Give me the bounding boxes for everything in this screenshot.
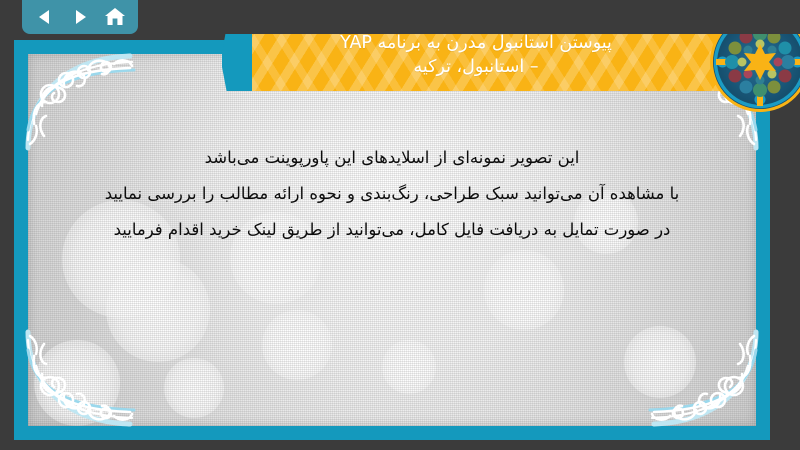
slide-body-text: این تصویر نمونه‌ای از اسلایدهای این پاور… [54, 140, 730, 248]
back-triangle-icon [36, 8, 54, 26]
ornament-corner-bottom-right [638, 322, 770, 440]
bokeh-circle [34, 340, 120, 426]
forward-triangle-icon [71, 8, 89, 26]
top-navigation-bar [0, 0, 800, 34]
ornament-corner-bottom-left [14, 322, 146, 440]
body-line: در صورت تمایل به دریافت فایل کامل، می‌تو… [54, 212, 730, 248]
home-button[interactable] [102, 5, 128, 29]
bokeh-circle [624, 326, 696, 398]
slide-header-banner: بررسی طراحی معماری فرهنگی؛ پیوستن استانب… [222, 28, 800, 91]
bokeh-circle [382, 340, 436, 394]
back-button[interactable] [32, 5, 58, 29]
bokeh-circle [164, 358, 224, 418]
body-line: با مشاهده آن می‌توانید سبک طراحی، رنگ‌بن… [54, 176, 730, 212]
bokeh-circle [262, 310, 332, 380]
body-line: این تصویر نمونه‌ای از اسلایدهای این پاور… [54, 140, 730, 176]
home-icon [104, 7, 126, 27]
slide-canvas: این تصویر نمونه‌ای از اسلایدهای این پاور… [14, 40, 770, 440]
bokeh-circle [106, 258, 210, 362]
bokeh-circle [484, 250, 564, 330]
navigation-pill [22, 0, 138, 34]
title-line: پیوستن استانبول مدرن به برنامه YAP [222, 31, 730, 55]
title-line: – استانبول، ترکیه [222, 55, 730, 79]
forward-button[interactable] [67, 5, 93, 29]
app-root: این تصویر نمونه‌ای از اسلایدهای این پاور… [0, 0, 800, 450]
